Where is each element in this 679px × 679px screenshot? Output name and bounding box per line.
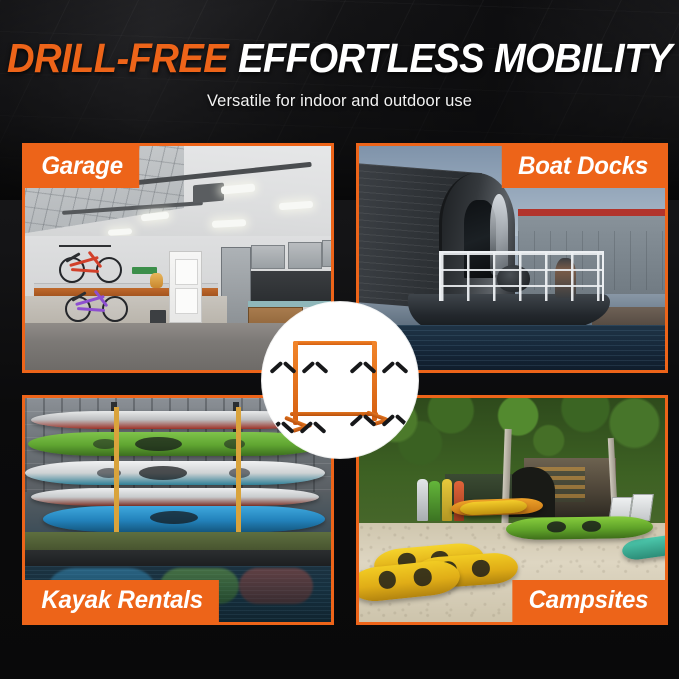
- header: DRILL-FREE EFFORTLESS MOBILITY Versatile…: [0, 0, 679, 138]
- dock-railing: [439, 251, 604, 300]
- infographic-canvas: DRILL-FREE EFFORTLESS MOBILITY Versatile…: [0, 0, 679, 679]
- rack-arm-lower-right2: [380, 402, 410, 417]
- rack-arm-lower-left2: [298, 409, 328, 424]
- wall-mounted-bike: [59, 249, 123, 283]
- kayak-white-blue: [25, 461, 325, 486]
- kayak-green: [506, 515, 653, 540]
- rack-arm-upper-right2: [380, 349, 410, 364]
- garage-door-element: [169, 251, 203, 323]
- title-main-text: EFFORTLESS MOBILITY: [238, 35, 672, 81]
- rack-arm-upper-left: [268, 349, 298, 364]
- kayak-white-red: [31, 488, 319, 506]
- page-title: DRILL-FREE EFFORTLESS MOBILITY: [7, 38, 672, 79]
- page-subtitle: Versatile for indoor and outdoor use: [207, 92, 472, 111]
- title-accent-text: DRILL-FREE: [7, 35, 228, 81]
- kayak-storage-rack-product: [262, 302, 418, 458]
- rack-arm-lower-left: [266, 409, 296, 424]
- rack-arm-upper-right: [348, 349, 378, 364]
- product-circle-inset[interactable]: [262, 302, 418, 458]
- rack-arm-upper-left2: [300, 349, 330, 364]
- rack-arm-lower-right: [348, 402, 378, 417]
- wall-mounted-bike: [65, 288, 129, 322]
- kayak-blue: [43, 506, 325, 533]
